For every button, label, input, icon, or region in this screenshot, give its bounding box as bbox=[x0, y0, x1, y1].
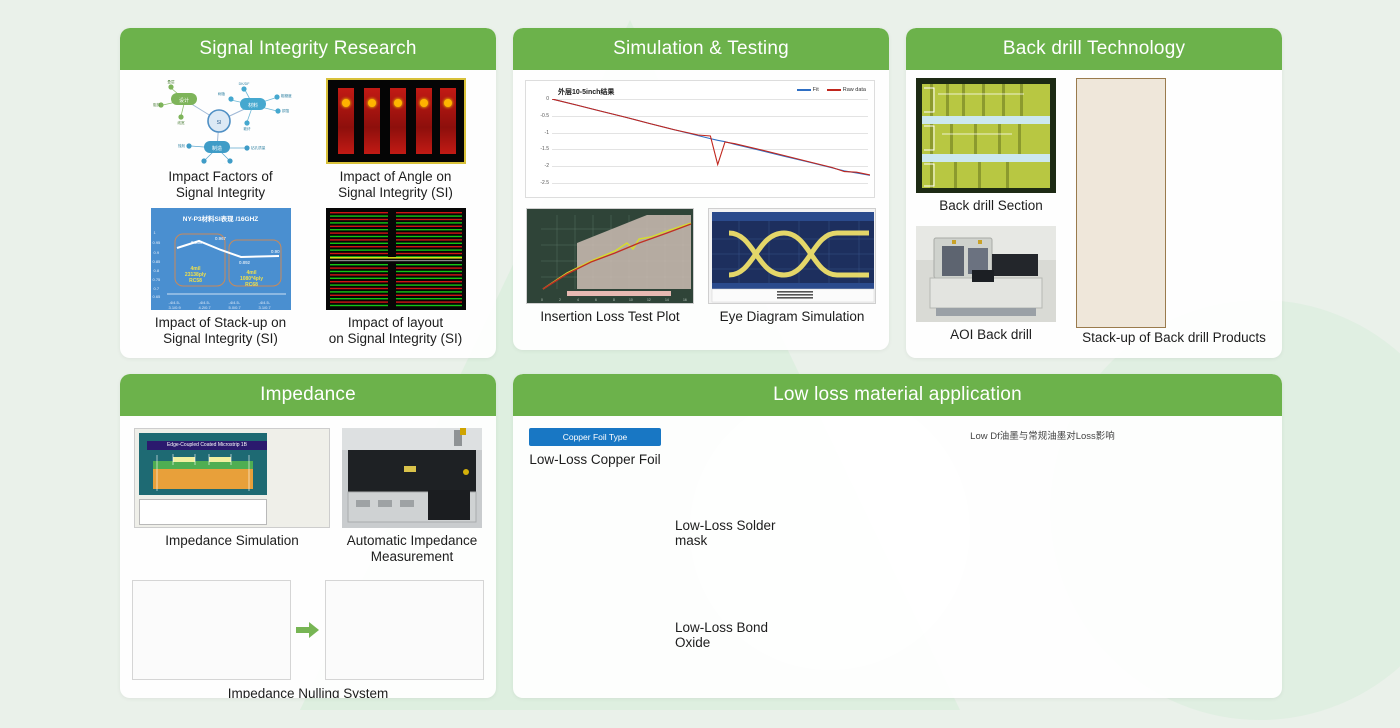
caption-impact-factors-l1: Impact Factors of bbox=[168, 169, 272, 185]
svg-text:粗糙度: 粗糙度 bbox=[281, 93, 292, 98]
layout-routing-plot bbox=[326, 208, 466, 310]
svg-text:制造: 制造 bbox=[211, 145, 221, 152]
eye-diagram-svg bbox=[709, 209, 876, 304]
caption-impedance-sim: Impedance Simulation bbox=[134, 533, 330, 549]
svg-text:电镀: 电镀 bbox=[200, 163, 208, 164]
figure-block-impact-layout: Impact of layout on Signal Integrity (SI… bbox=[313, 208, 478, 348]
caption-impact-layout-l1: Impact of layout bbox=[329, 315, 463, 331]
insertion-loss-svg: 024 6810 121416 bbox=[527, 209, 694, 304]
caption-insertion-loss: Insertion Loss Test Plot bbox=[526, 309, 694, 325]
caption-auto-impedance-l2: Measurement bbox=[342, 549, 482, 565]
svg-text:铜箔: 铜箔 bbox=[282, 108, 290, 113]
svg-text:10: 10 bbox=[629, 298, 633, 302]
card-title-simulation-testing: Simulation & Testing bbox=[513, 28, 889, 70]
card-title-impedance: Impedance bbox=[120, 374, 496, 416]
angle-cross-section bbox=[326, 78, 466, 164]
figure-block-auto-impedance: Automatic Impedance Measurement bbox=[342, 428, 482, 566]
svg-text:6: 6 bbox=[595, 298, 597, 302]
svg-text:0.958: 0.958 bbox=[191, 240, 203, 245]
svg-text:0.90: 0.90 bbox=[271, 249, 280, 254]
card-back-drill: Back drill Technology bbox=[906, 28, 1282, 358]
insertion-loss-mask-plot: 024 6810 121416 bbox=[526, 208, 694, 304]
impedance-sim-geometry bbox=[139, 453, 267, 499]
impedance-tester-photo bbox=[342, 428, 482, 528]
eye-diagram bbox=[708, 208, 876, 304]
card-signal-integrity: Signal Integrity Research bbox=[120, 28, 496, 358]
chart-bond-oxide bbox=[819, 576, 1266, 698]
caption-aoi: AOI Back drill bbox=[916, 327, 1066, 343]
stackup-si-chart: NY-P3材料SI表现 /16GHZ 1 0.95 0.9 0.85 0.8 0… bbox=[151, 208, 291, 310]
il-chart-title: 外层10-5inch结果 bbox=[558, 87, 614, 97]
caption-impact-layout-l2: on Signal Integrity (SI) bbox=[329, 331, 463, 347]
figure-block-backdrill-stackup: Stack-up of Back drill Products bbox=[1076, 78, 1272, 346]
caption-impact-stackup-l2: Signal Integrity (SI) bbox=[155, 331, 286, 347]
caption-copper-foil: Low-Loss Copper Foil bbox=[529, 452, 661, 468]
card-title-low-loss: Low loss material application bbox=[513, 374, 1282, 416]
impedance-tester-svg bbox=[342, 428, 482, 528]
impedance-sim-title: Edge-Coupled Coated Microstrip 1B bbox=[147, 441, 267, 450]
backdrill-stackup-diagram bbox=[1076, 78, 1266, 328]
svg-text:16: 16 bbox=[683, 298, 687, 302]
card-simulation-testing: Simulation & Testing 外层10-5inch结果 Fit Ra… bbox=[513, 28, 889, 350]
svg-text:0.892: 0.892 bbox=[239, 260, 251, 265]
svg-text:DK/DF: DK/DF bbox=[238, 82, 250, 86]
svg-text:12: 12 bbox=[647, 298, 651, 302]
caption-impact-angle-l2: Signal Integrity (SI) bbox=[338, 185, 453, 201]
layout-routing-svg bbox=[326, 208, 466, 310]
svg-text:树脂: 树脂 bbox=[217, 91, 225, 96]
caption-auto-impedance-l1: Automatic Impedance bbox=[342, 533, 482, 549]
svg-text:材料: 材料 bbox=[247, 102, 257, 109]
stackup-cross-section-image bbox=[1076, 78, 1166, 328]
polar-si-screenshot: Edge-Coupled Coated Microstrip 1B bbox=[134, 428, 330, 528]
il-chart-plot: 0-0.5-1-1.5-2-2.5 bbox=[552, 99, 868, 181]
insertion-loss-fit-chart: 外层10-5inch结果 Fit Raw data 0-0.5-1-1.5-2-… bbox=[525, 80, 875, 198]
copper-foil-table-header: Copper Foil Type bbox=[529, 428, 661, 446]
caption-backdrill-stackup: Stack-up of Back drill Products bbox=[1076, 330, 1272, 346]
caption-backdrill-section: Back drill Section bbox=[916, 198, 1066, 214]
svg-text:背钻stub: 背钻stub bbox=[223, 163, 237, 164]
chart-title-low-df: Low Df油墨与常规油墨对Loss影响 bbox=[819, 428, 1266, 442]
svg-text:阻抗: 阻抗 bbox=[153, 102, 161, 107]
caption-impact-stackup-l1: Impact of Stack-up on bbox=[155, 315, 286, 331]
card-title-signal-integrity: Signal Integrity Research bbox=[120, 28, 496, 70]
impedance-sim-canvas: Edge-Coupled Coated Microstrip 1B bbox=[139, 433, 267, 495]
arrow-right-icon bbox=[295, 613, 321, 647]
svg-text:玻纤: 玻纤 bbox=[243, 126, 251, 131]
svg-text:钻孔质量: 钻孔质量 bbox=[251, 145, 266, 150]
svg-text:线宽: 线宽 bbox=[177, 120, 185, 125]
caption-impact-factors-l2: Signal Integrity bbox=[168, 185, 272, 201]
caption-nulling: Impedance Nulling System bbox=[132, 686, 484, 698]
label-solder-mask: Low-Loss Solder mask bbox=[675, 518, 805, 548]
svg-text:设计: 设计 bbox=[178, 97, 188, 104]
card-impedance: Impedance Edge-Coupled Coated Microstrip… bbox=[120, 374, 496, 698]
copper-foil-table: Copper Foil Type Low-Loss Copper Foil bbox=[529, 428, 661, 698]
aoi-machine-svg bbox=[916, 226, 1056, 322]
il-series-svg bbox=[552, 99, 870, 185]
caption-impact-angle-l1: Impact of Angle on bbox=[338, 169, 453, 185]
stackup-chart-title: NY-P3材料SI表现 /16GHZ bbox=[151, 213, 291, 223]
figure-block-insertion-loss: 024 6810 121416 Insertion Loss Test Plot bbox=[526, 208, 694, 325]
svg-text:0.967: 0.967 bbox=[215, 236, 227, 241]
figure-block-nulling bbox=[132, 580, 484, 680]
svg-text:4: 4 bbox=[577, 298, 579, 302]
poster-root: Signal Integrity Research bbox=[0, 0, 1400, 728]
il-chart-legend: Fit Raw data bbox=[797, 87, 866, 93]
figure-block-backdrill-section: Back drill Section bbox=[916, 78, 1066, 214]
backdrill-section-svg bbox=[916, 78, 1056, 193]
svg-text:8: 8 bbox=[613, 298, 615, 302]
card-title-back-drill: Back drill Technology bbox=[906, 28, 1282, 70]
figure-block-impedance-sim: Edge-Coupled Coated Microstrip 1B bbox=[134, 428, 330, 566]
impedance-chart-before bbox=[132, 580, 291, 680]
svg-text:叠层: 叠层 bbox=[167, 79, 175, 84]
label-bond-oxide: Low-Loss Bond Oxide bbox=[675, 620, 805, 650]
svg-text:SI: SI bbox=[216, 120, 221, 126]
il-legend-fit: Fit bbox=[797, 87, 819, 93]
svg-text:14: 14 bbox=[665, 298, 669, 302]
chart-low-df-solder-mask: Low Df油墨与常规油墨对Loss影响 bbox=[819, 428, 1266, 568]
figure-block-impact-angle: Impact of Angle on Signal Integrity (SI) bbox=[313, 78, 478, 202]
caption-eye-diagram: Eye Diagram Simulation bbox=[708, 309, 876, 325]
figure-block-impact-factors: SI 设计 材料 制造 bbox=[138, 78, 303, 202]
il-legend-raw: Raw data bbox=[827, 87, 866, 93]
mind-map-svg: SI 设计 材料 制造 bbox=[141, 78, 301, 164]
svg-text:2: 2 bbox=[559, 298, 561, 302]
figure-block-aoi: AOI Back drill bbox=[916, 226, 1066, 343]
backdrill-cross-section bbox=[916, 78, 1056, 193]
figure-block-eye-diagram: Eye Diagram Simulation bbox=[708, 208, 876, 325]
card-low-loss: Low loss material application Copper Foi… bbox=[513, 374, 1282, 698]
impedance-chart-after bbox=[325, 580, 484, 680]
impedance-sim-notes bbox=[139, 499, 267, 525]
mind-map-diagram: SI 设计 材料 制造 bbox=[141, 78, 301, 164]
svg-text:0: 0 bbox=[541, 298, 543, 302]
svg-text:蚀刻: 蚀刻 bbox=[177, 143, 185, 148]
aoi-machine-photo bbox=[916, 226, 1056, 322]
figure-block-impact-stackup: NY-P3材料SI表现 /16GHZ 1 0.95 0.9 0.85 0.8 0… bbox=[138, 208, 303, 348]
